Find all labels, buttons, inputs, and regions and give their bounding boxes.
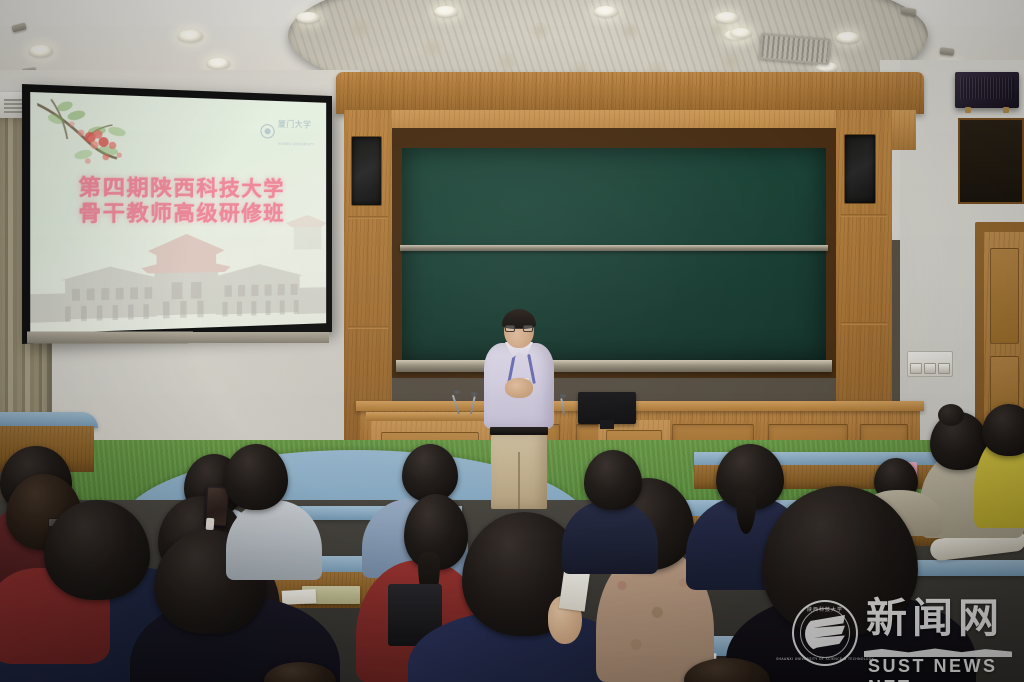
stage-desk-top bbox=[356, 401, 924, 411]
logo-text: 厦门大学 bbox=[278, 119, 311, 129]
ceiling-downlight bbox=[178, 30, 203, 42]
monitor-stand bbox=[600, 420, 614, 429]
chalkboard-tray bbox=[396, 360, 832, 372]
projection-screen-bottom-bar bbox=[27, 331, 329, 343]
campus-building-illustration bbox=[30, 213, 326, 334]
audience-desk bbox=[900, 560, 1024, 576]
lecture-hall-photo: 厦门大学 XIAMEN UNIVERSITY 第四期陕西科技大学 骨干教师高级研… bbox=[0, 0, 1024, 682]
chalkboard bbox=[402, 148, 826, 360]
pillar-speaker-grille bbox=[351, 136, 382, 206]
oval-dot bbox=[420, 38, 446, 58]
ceiling-downlight bbox=[434, 6, 458, 17]
board-cornice bbox=[336, 72, 924, 114]
presenter-belt bbox=[490, 427, 548, 435]
light-switch[interactable] bbox=[938, 363, 950, 374]
trouser-crease bbox=[518, 452, 520, 509]
ceiling-speaker bbox=[940, 47, 955, 56]
wall-speaker bbox=[955, 72, 1019, 108]
logo-ring-icon bbox=[261, 124, 275, 139]
presenter bbox=[478, 312, 560, 508]
microphone-head bbox=[471, 392, 477, 396]
oval-dot bbox=[494, 52, 520, 72]
chalkboard-slide-rail bbox=[400, 245, 828, 251]
ceiling-speaker bbox=[11, 22, 26, 32]
wall-switch-panel[interactable] bbox=[907, 351, 953, 377]
attendee-head bbox=[402, 444, 458, 502]
pillar-speaker-grille bbox=[844, 134, 876, 204]
microphone-head bbox=[560, 394, 566, 398]
ceiling-downlight bbox=[207, 58, 230, 69]
ceiling-downlight bbox=[836, 32, 860, 43]
oval-dot bbox=[348, 18, 374, 38]
wood-pillar-left bbox=[344, 110, 392, 450]
university-logo: 厦门大学 XIAMEN UNIVERSITY bbox=[261, 113, 315, 151]
pillar-seam bbox=[841, 214, 887, 217]
attendee-head bbox=[224, 444, 288, 510]
right-upper-dark-panel bbox=[958, 118, 1024, 204]
phone-highlight bbox=[206, 518, 215, 531]
projection-screen: 厦门大学 XIAMEN UNIVERSITY 第四期陕西科技大学 骨干教师高级研… bbox=[22, 84, 332, 344]
oval-dot bbox=[618, 22, 642, 40]
paper-sheet bbox=[282, 589, 317, 605]
pillar-seam bbox=[348, 216, 388, 219]
lectern-top bbox=[366, 412, 494, 421]
microphone-head bbox=[454, 390, 460, 394]
ceiling-downlight bbox=[715, 12, 739, 23]
eyeglasses-icon bbox=[505, 325, 533, 332]
slide-title-line1: 第四期陕西科技大学 bbox=[30, 173, 326, 201]
oval-dot bbox=[528, 22, 552, 40]
light-switch[interactable] bbox=[924, 363, 936, 374]
hair-bun bbox=[938, 404, 964, 426]
oval-dot bbox=[718, 52, 744, 72]
ceiling-downlight bbox=[296, 12, 320, 23]
presenter-hands bbox=[505, 378, 533, 398]
ceiling-downlight bbox=[594, 6, 618, 17]
ceiling-downlight bbox=[29, 45, 53, 57]
wood-pillar-right bbox=[836, 110, 892, 440]
ceiling-downlight bbox=[730, 28, 752, 38]
logo-subtext: XIAMEN UNIVERSITY bbox=[278, 142, 314, 147]
attendee-head bbox=[584, 450, 642, 510]
pillar-seam bbox=[841, 322, 887, 325]
projected-slide: 厦门大学 XIAMEN UNIVERSITY 第四期陕西科技大学 骨干教师高级研… bbox=[30, 92, 326, 334]
light-switch[interactable] bbox=[910, 363, 922, 374]
pillar-seam bbox=[348, 326, 388, 329]
